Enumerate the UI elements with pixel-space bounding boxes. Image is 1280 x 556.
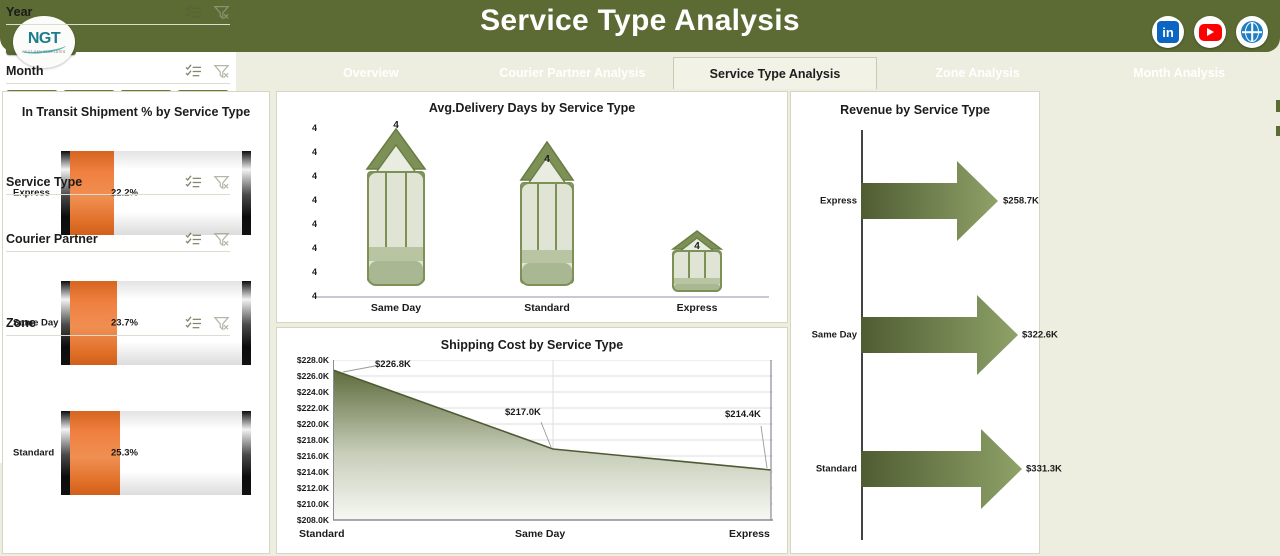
revenue-value-label: $322.6K: [1022, 330, 1058, 341]
x-axis-label: Express: [729, 528, 770, 540]
revenue-arrow-bar[interactable]: [861, 161, 999, 246]
multi-select-icon[interactable]: [185, 316, 202, 331]
linkedin-icon: in: [1157, 21, 1179, 43]
y-tick: 4: [312, 123, 317, 133]
y-tick: $212.0K: [297, 483, 329, 493]
x-axis-label: Standard: [517, 302, 577, 314]
y-tick: $218.0K: [297, 435, 329, 445]
cost-y-axis: $228.0K $226.0K $224.0K $222.0K $220.0K …: [277, 356, 329, 522]
y-tick: $210.0K: [297, 499, 329, 509]
revenue-panel: Revenue by Service Type Express $258.7K …: [790, 91, 1040, 554]
y-tick: 4: [312, 195, 317, 205]
filter-header-service-type: Service Type: [6, 170, 230, 195]
y-tick: 4: [312, 267, 317, 277]
clear-filter-icon[interactable]: [213, 64, 230, 79]
y-tick: 4: [312, 219, 317, 229]
transit-bar-track: [61, 411, 251, 495]
clear-filter-icon[interactable]: [213, 175, 230, 190]
revenue-category-label: Express: [793, 196, 857, 207]
transit-bar-value: 25.3%: [111, 448, 138, 459]
multi-select-icon[interactable]: [185, 232, 202, 247]
clear-filter-icon[interactable]: [213, 232, 230, 247]
shipping-cost-plot: $228.0K $226.0K $224.0K $222.0K $220.0K …: [277, 356, 789, 552]
transit-bar-row[interactable]: Standard 25.3%: [3, 403, 269, 503]
main-nav-tabs: Overview Courier Partner Analysis Servic…: [270, 57, 1280, 89]
clear-filter-icon[interactable]: [213, 5, 230, 20]
filter-title: Year: [6, 5, 185, 19]
avg-delivery-plot: 4 4 4 4 4 4 4 4: [277, 124, 789, 314]
y-tick: $226.0K: [297, 371, 329, 381]
youtube-icon: [1199, 24, 1222, 41]
y-tick: 4: [312, 243, 317, 253]
y-tick: $208.0K: [297, 515, 329, 525]
youtube-button[interactable]: [1194, 16, 1226, 48]
transit-bar-label: Standard: [13, 448, 63, 459]
multi-select-icon[interactable]: [185, 5, 202, 20]
tab-overview[interactable]: Overview: [270, 57, 472, 89]
cost-data-label: $214.4K: [725, 409, 761, 420]
shipping-cost-title: Shipping Cost by Service Type: [277, 338, 787, 352]
revenue-category-label: Same Day: [793, 330, 857, 341]
x-axis-label: Standard: [299, 528, 345, 540]
y-tick: $216.0K: [297, 451, 329, 461]
x-axis-label: Express: [669, 302, 725, 314]
filter-title: Month: [6, 64, 185, 78]
transit-bar-cap-right: [242, 281, 251, 365]
website-button[interactable]: [1236, 16, 1268, 48]
cost-data-label: $226.8K: [375, 359, 411, 370]
right-edge-accent: [1276, 100, 1280, 112]
pencil-value-label: 4: [363, 120, 429, 131]
shipping-cost-area: [333, 360, 773, 522]
y-tick: $214.0K: [297, 467, 329, 477]
revenue-arrow-bar[interactable]: [861, 295, 1019, 380]
avg-delivery-days-panel: Avg.Delivery Days by Service Type 4 4 4 …: [276, 91, 788, 323]
y-tick: $224.0K: [297, 387, 329, 397]
revenue-value-label: $331.3K: [1026, 464, 1062, 475]
tab-month-analysis[interactable]: Month Analysis: [1078, 57, 1280, 89]
pencil-value-label: 4: [517, 154, 577, 165]
filter-header-year: Year: [6, 0, 230, 25]
tab-service-type-analysis[interactable]: Service Type Analysis: [673, 57, 877, 89]
shipping-cost-panel: Shipping Cost by Service Type $228.0K $2…: [276, 327, 788, 554]
filter-title: Courier Partner: [6, 232, 185, 246]
tab-courier-partner-analysis[interactable]: Courier Partner Analysis: [472, 57, 674, 89]
dashboard-page: Service Type Analysis NGT NEXT GEN TEMPL…: [0, 0, 1280, 556]
social-links: in: [1152, 16, 1268, 48]
tab-zone-analysis[interactable]: Zone Analysis: [877, 57, 1079, 89]
filter-header-courier-partner: Courier Partner: [6, 227, 230, 252]
pencil-bar[interactable]: [669, 229, 725, 298]
multi-select-icon[interactable]: [185, 64, 202, 79]
y-tick: $220.0K: [297, 419, 329, 429]
in-transit-title: In Transit Shipment % by Service Type: [3, 104, 269, 121]
globe-icon: [1241, 21, 1263, 43]
filter-title: Zone: [6, 316, 185, 330]
filter-header-zone: Zone: [6, 311, 230, 336]
filter-title: Service Type: [6, 175, 185, 189]
pencil-value-label: 4: [669, 241, 725, 252]
y-tick: $222.0K: [297, 403, 329, 413]
pencil-bar[interactable]: [363, 127, 429, 298]
right-edge-accent: [1276, 126, 1280, 136]
revenue-category-label: Standard: [793, 464, 857, 475]
revenue-value-label: $258.7K: [1003, 196, 1039, 207]
linkedin-button[interactable]: in: [1152, 16, 1184, 48]
multi-select-icon[interactable]: [185, 175, 202, 190]
avg-delivery-title: Avg.Delivery Days by Service Type: [277, 101, 787, 115]
clear-filter-icon[interactable]: [213, 316, 230, 331]
x-axis-label: Same Day: [363, 302, 429, 314]
revenue-arrow-bar[interactable]: [861, 429, 1023, 514]
transit-bar-cap-right: [242, 411, 251, 495]
transit-bar-cap-right: [242, 151, 251, 235]
avg-delivery-y-axis: 4 4 4 4 4 4 4 4: [295, 124, 317, 296]
y-tick: $228.0K: [297, 355, 329, 365]
cost-data-label: $217.0K: [505, 407, 541, 418]
filter-header-month: Month: [6, 59, 230, 84]
transit-bar-cap-left: [61, 411, 70, 495]
y-tick: 4: [312, 147, 317, 157]
x-axis-label: Same Day: [515, 528, 565, 540]
y-tick: 4: [312, 171, 317, 181]
revenue-title: Revenue by Service Type: [791, 103, 1039, 117]
